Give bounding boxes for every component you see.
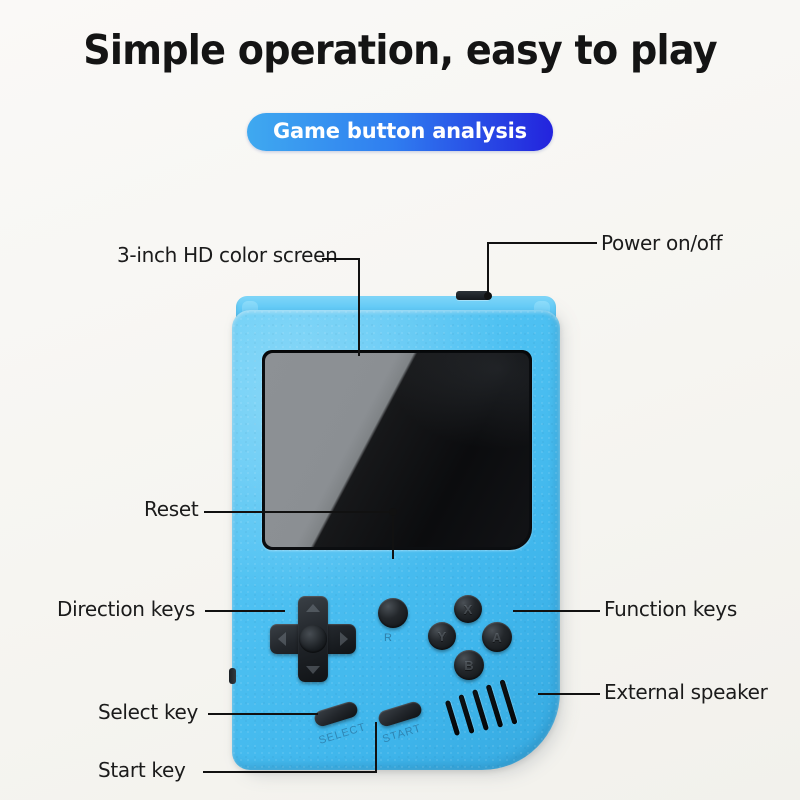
speaker-grille bbox=[448, 678, 530, 748]
button-b-label: B bbox=[464, 658, 473, 673]
button-y[interactable]: Y bbox=[428, 622, 456, 650]
handheld-game-console: R X Y A B SELECT START bbox=[232, 296, 560, 770]
callout-label-direction: Direction keys bbox=[57, 597, 195, 621]
button-a-label: A bbox=[492, 630, 501, 645]
leader-line-start-h bbox=[203, 771, 377, 773]
leader-dot-reset bbox=[389, 508, 397, 516]
page-title: Simple operation, easy to play bbox=[28, 26, 772, 74]
speaker-slit bbox=[499, 679, 517, 724]
button-x[interactable]: X bbox=[454, 595, 482, 623]
button-y-label: Y bbox=[438, 629, 447, 644]
section-badge: Game button analysis bbox=[247, 113, 553, 151]
leader-line-speaker bbox=[538, 693, 600, 695]
button-a[interactable]: A bbox=[482, 622, 512, 652]
dpad-center-hub bbox=[299, 625, 327, 653]
leader-line-reset-v bbox=[392, 511, 394, 559]
reset-button[interactable] bbox=[378, 598, 408, 628]
side-port bbox=[229, 668, 236, 684]
dpad-right-arrow-icon bbox=[340, 632, 348, 646]
speaker-slit bbox=[486, 684, 504, 728]
device-body: R X Y A B SELECT START bbox=[232, 310, 560, 770]
speaker-slit bbox=[458, 694, 474, 734]
leader-line-reset-h bbox=[204, 511, 394, 513]
direction-pad[interactable] bbox=[270, 596, 356, 682]
leader-line-screen-v bbox=[358, 258, 360, 356]
callout-label-select: Select key bbox=[98, 700, 198, 724]
speaker-slit bbox=[445, 700, 460, 736]
leader-line-start-v bbox=[375, 722, 377, 772]
callout-label-screen: 3-inch HD color screen bbox=[117, 243, 338, 267]
callout-label-reset: Reset bbox=[144, 497, 198, 521]
leader-line-power-v bbox=[487, 242, 489, 296]
leader-line-power-h bbox=[487, 242, 597, 244]
screen-glare bbox=[386, 353, 529, 450]
infographic-canvas: Simple operation, easy to play Game butt… bbox=[0, 0, 800, 800]
speaker-slit bbox=[472, 689, 489, 731]
callout-label-function: Function keys bbox=[604, 597, 737, 621]
leader-dot-power bbox=[484, 292, 492, 300]
screen-display bbox=[265, 353, 529, 547]
reset-button-caption: R bbox=[384, 632, 392, 644]
leader-line-direction bbox=[205, 610, 285, 612]
callout-label-speaker: External speaker bbox=[604, 680, 768, 704]
leader-line-function bbox=[513, 610, 600, 612]
screen-bezel bbox=[262, 350, 532, 550]
leader-line-screen-h bbox=[322, 258, 360, 260]
dpad-left-arrow-icon bbox=[278, 632, 286, 646]
callout-label-power: Power on/off bbox=[601, 231, 722, 255]
button-b[interactable]: B bbox=[454, 650, 484, 680]
callout-label-start: Start key bbox=[98, 758, 186, 782]
button-x-label: X bbox=[464, 602, 473, 617]
dpad-up-arrow-icon bbox=[306, 604, 320, 612]
leader-line-select bbox=[208, 713, 318, 715]
dpad-down-arrow-icon bbox=[306, 666, 320, 674]
